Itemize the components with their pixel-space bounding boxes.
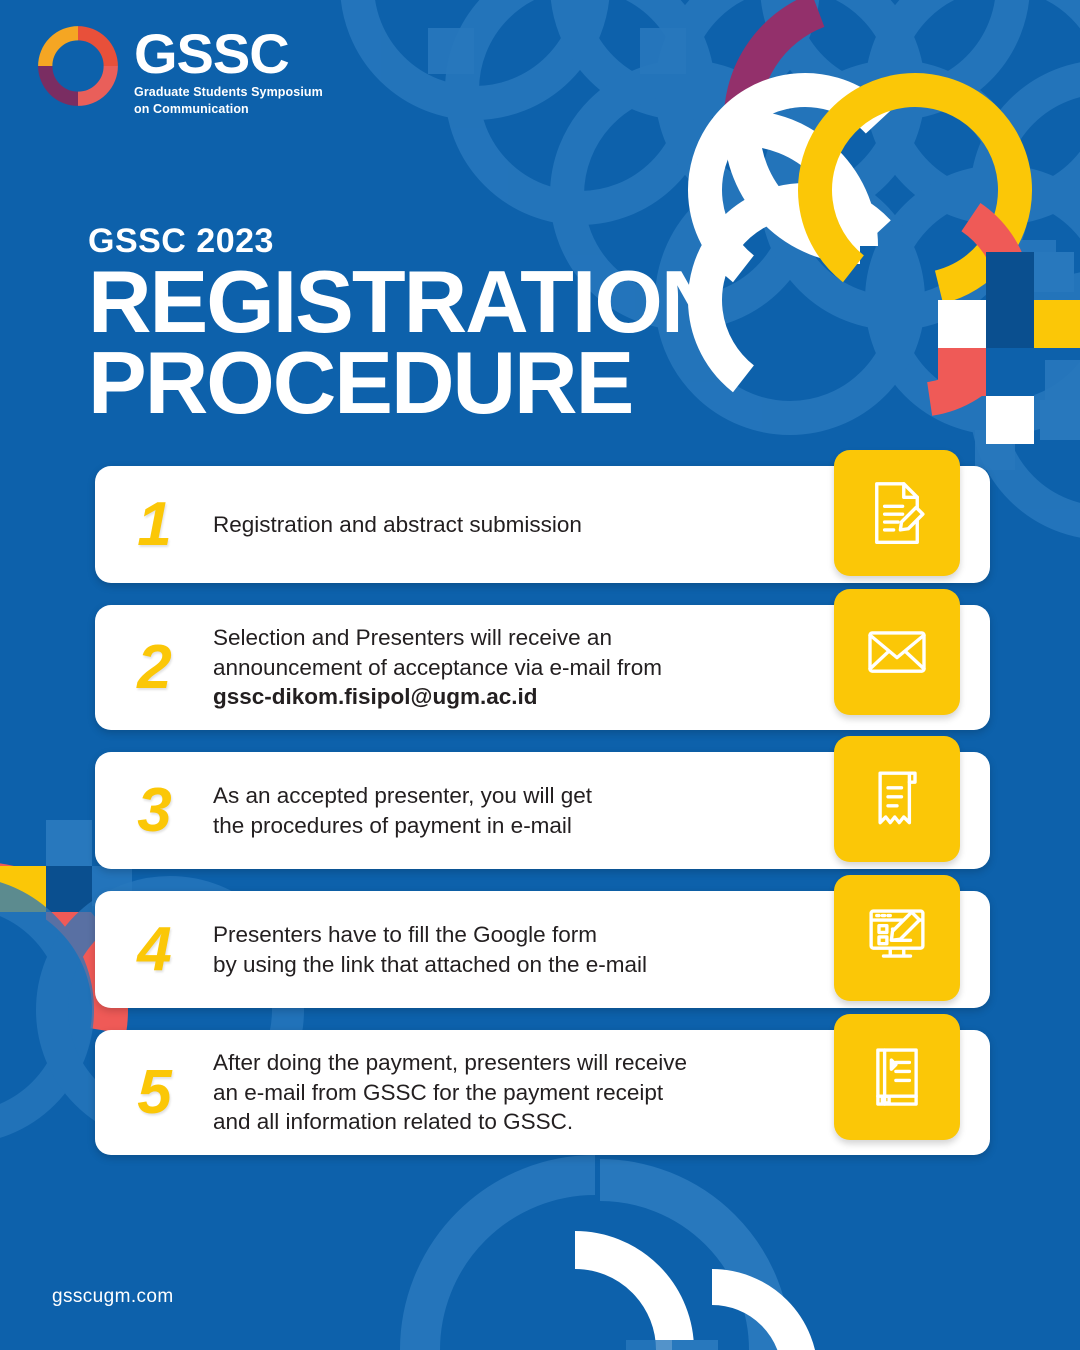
logo-subtitle-line-2: on Communication xyxy=(134,101,323,118)
step-text: Presenters have to fill the Google form … xyxy=(213,920,827,980)
receipt-icon xyxy=(861,763,933,835)
procedure-step: 3 As an accepted presenter, you will get… xyxy=(0,744,1080,869)
contact-email: gssc-dikom.fisipol@ugm.ac.id xyxy=(213,682,662,712)
step-text: Registration and abstract submission xyxy=(213,510,762,540)
procedure-step: 2 Selection and Presenters will receive … xyxy=(0,597,1080,730)
step-text: After doing the payment, presenters will… xyxy=(213,1048,867,1138)
logo-title: GSSC xyxy=(134,28,323,81)
procedure-step: 1 Registration and abstract submission xyxy=(0,458,1080,583)
step-icon-box xyxy=(834,589,960,715)
page-title-line-1: REGISTRATION xyxy=(88,262,722,343)
step-number: 5 xyxy=(95,1062,213,1124)
step-text-line: After doing the payment, presenters will… xyxy=(213,1048,687,1078)
brand-logo: GSSC Graduate Students Symposium on Comm… xyxy=(36,24,323,117)
poster-canvas: GSSC Graduate Students Symposium on Comm… xyxy=(0,0,1080,1350)
book-icon xyxy=(861,1041,933,1113)
step-text-line: As an accepted presenter, you will get xyxy=(213,781,592,811)
step-text-line: an e-mail from GSSC for the payment rece… xyxy=(213,1078,687,1108)
step-text-line: Selection and Presenters will receive an xyxy=(213,623,662,653)
step-text: Selection and Presenters will receive an… xyxy=(213,623,842,713)
step-icon-box xyxy=(834,875,960,1001)
step-number: 3 xyxy=(95,780,213,842)
document-with-pen-icon xyxy=(861,477,933,549)
step-text: As an accepted presenter, you will get t… xyxy=(213,781,772,841)
page-title-line-2: PROCEDURE xyxy=(88,343,722,424)
step-number: 1 xyxy=(95,494,213,556)
step-icon-box xyxy=(834,450,960,576)
step-icon-box xyxy=(834,736,960,862)
procedure-step: 5 After doing the payment, presenters wi… xyxy=(0,1022,1080,1155)
gssc-ring-logo-icon xyxy=(36,24,120,108)
step-text-line: by using the link that attached on the e… xyxy=(213,950,647,980)
step-text-line: announcement of acceptance via e-mail fr… xyxy=(213,653,662,683)
step-text-line: Presenters have to fill the Google form xyxy=(213,920,647,950)
step-text-line: Registration and abstract submission xyxy=(213,510,582,540)
envelope-icon xyxy=(861,616,933,688)
procedure-step: 4 Presenters have to fill the Google for… xyxy=(0,883,1080,1008)
procedure-step-list: 1 Registration and abstract submission 2 xyxy=(0,458,1080,1169)
step-number: 4 xyxy=(95,919,213,981)
step-number: 2 xyxy=(95,637,213,699)
website-footer: gsscugm.com xyxy=(52,1286,174,1308)
online-form-monitor-icon xyxy=(861,902,933,974)
page-title: REGISTRATION PROCEDURE xyxy=(88,262,722,424)
step-text-line: and all information related to GSSC. xyxy=(213,1107,687,1137)
step-text-line: the procedures of payment in e-mail xyxy=(213,811,592,841)
step-icon-box xyxy=(834,1014,960,1140)
logo-subtitle-line-1: Graduate Students Symposium xyxy=(134,84,323,101)
